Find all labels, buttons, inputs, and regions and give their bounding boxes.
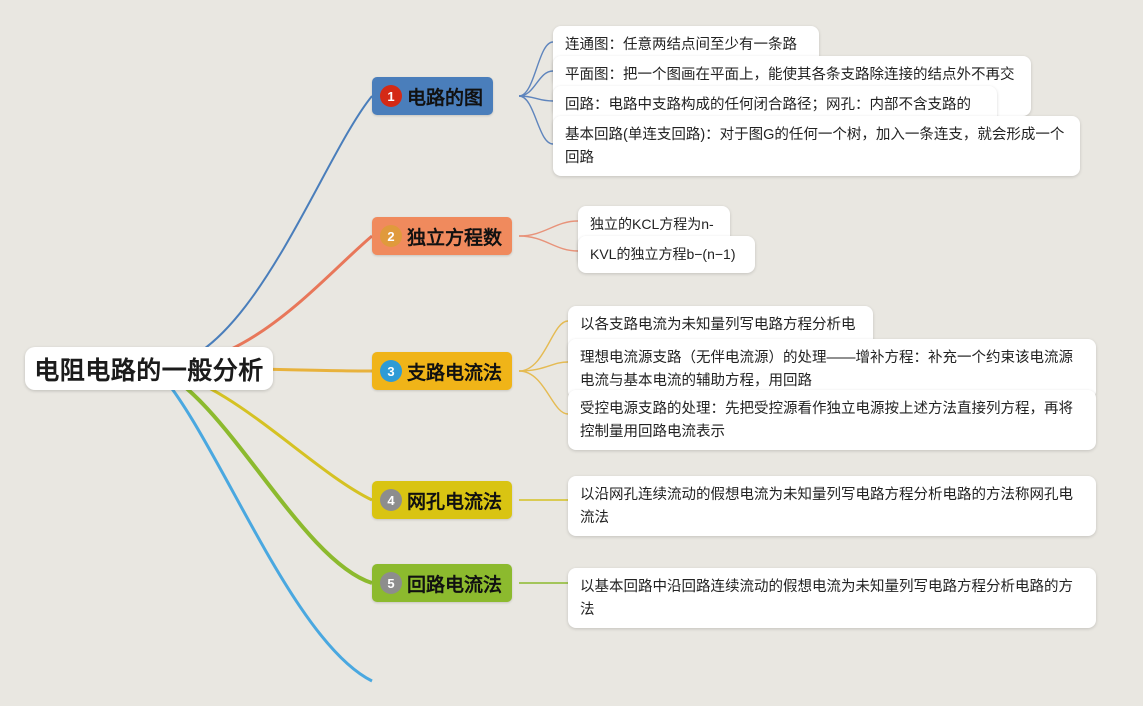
wire-leaf-1-3: [519, 96, 553, 101]
branch-label-4: 网孔电流法: [407, 487, 502, 514]
leaf-text-5-1: 以基本回路中沿回路连续流动的假想电流为未知量列写电路方程分析电路的方法: [580, 579, 1073, 618]
branch-node-3[interactable]: 3 支路电流法: [372, 352, 512, 390]
leaf-node-1-4[interactable]: 基本回路(单连支回路)：对于图G的任何一个树，加入一条连支，就会形成一个回路: [553, 116, 1080, 176]
leaf-text-2-2: KVL的独立方程b−(n−1): [590, 246, 736, 262]
leaf-text-1-4: 基本回路(单连支回路)：对于图G的任何一个树，加入一条连支，就会形成一个回路: [565, 127, 1064, 166]
branch-label-3: 支路电流法: [407, 358, 502, 385]
wire-leaf-2-2: [519, 236, 578, 251]
branch-badge-4: 4: [380, 489, 402, 511]
branch-badge-5: 5: [380, 572, 402, 594]
branch-node-2[interactable]: 2 独立方程数: [372, 217, 512, 255]
branch-node-4[interactable]: 4 网孔电流法: [372, 481, 512, 519]
leaf-text-3-2: 理想电流源支路（无伴电流源）的处理——增补方程：补充一个约束该电流源电流与基本电…: [580, 350, 1073, 389]
root-node-label: 电阻电路的一般分析: [34, 351, 264, 387]
branch-node-1[interactable]: 1 电路的图: [372, 77, 493, 115]
branch-badge-3: 3: [380, 360, 402, 382]
leaf-node-3-3[interactable]: 受控电源支路的处理：先把受控源看作独立电源按上述方法直接列方程，再将控制量用回路…: [568, 390, 1096, 450]
wire-leaf-1-1: [519, 42, 553, 96]
wire-leaf-3-2: [519, 362, 568, 371]
wire-branch-1: [155, 96, 372, 368]
branch-label-2: 独立方程数: [407, 223, 502, 250]
root-node[interactable]: 电阻电路的一般分析: [25, 347, 273, 390]
branch-badge-1: 1: [380, 85, 402, 107]
leaf-node-4-1[interactable]: 以沿网孔连续流动的假想电流为未知量列写电路方程分析电路的方法称网孔电流法: [568, 476, 1096, 536]
leaf-node-5-1[interactable]: 以基本回路中沿回路连续流动的假想电流为未知量列写电路方程分析电路的方法: [568, 568, 1096, 628]
leaf-node-2-2[interactable]: KVL的独立方程b−(n−1): [578, 236, 755, 273]
wire-leaf-2-1: [519, 221, 578, 236]
branch-node-5[interactable]: 5 回路电流法: [372, 564, 512, 602]
wire-leaf-3-1: [519, 321, 568, 371]
wire-branch-5: [155, 368, 372, 583]
wire-leaf-3-3: [519, 371, 568, 414]
wire-leaf-1-4: [519, 96, 553, 144]
branch-badge-2: 2: [380, 225, 402, 247]
mindmap-canvas: 电阻电路的一般分析 1 电路的图 连通图：任意两结点间至少有一条路径 平面图：把…: [0, 0, 1143, 706]
wire-leaf-1-2: [519, 71, 553, 96]
branch-label-5: 回路电流法: [407, 570, 502, 597]
leaf-text-3-3: 受控电源支路的处理：先把受控源看作独立电源按上述方法直接列方程，再将控制量用回路…: [580, 401, 1073, 440]
branch-label-1: 电路的图: [407, 83, 483, 110]
leaf-text-4-1: 以沿网孔连续流动的假想电流为未知量列写电路方程分析电路的方法称网孔电流法: [580, 487, 1073, 526]
wire-unattached-branch-curve: [155, 368, 372, 681]
